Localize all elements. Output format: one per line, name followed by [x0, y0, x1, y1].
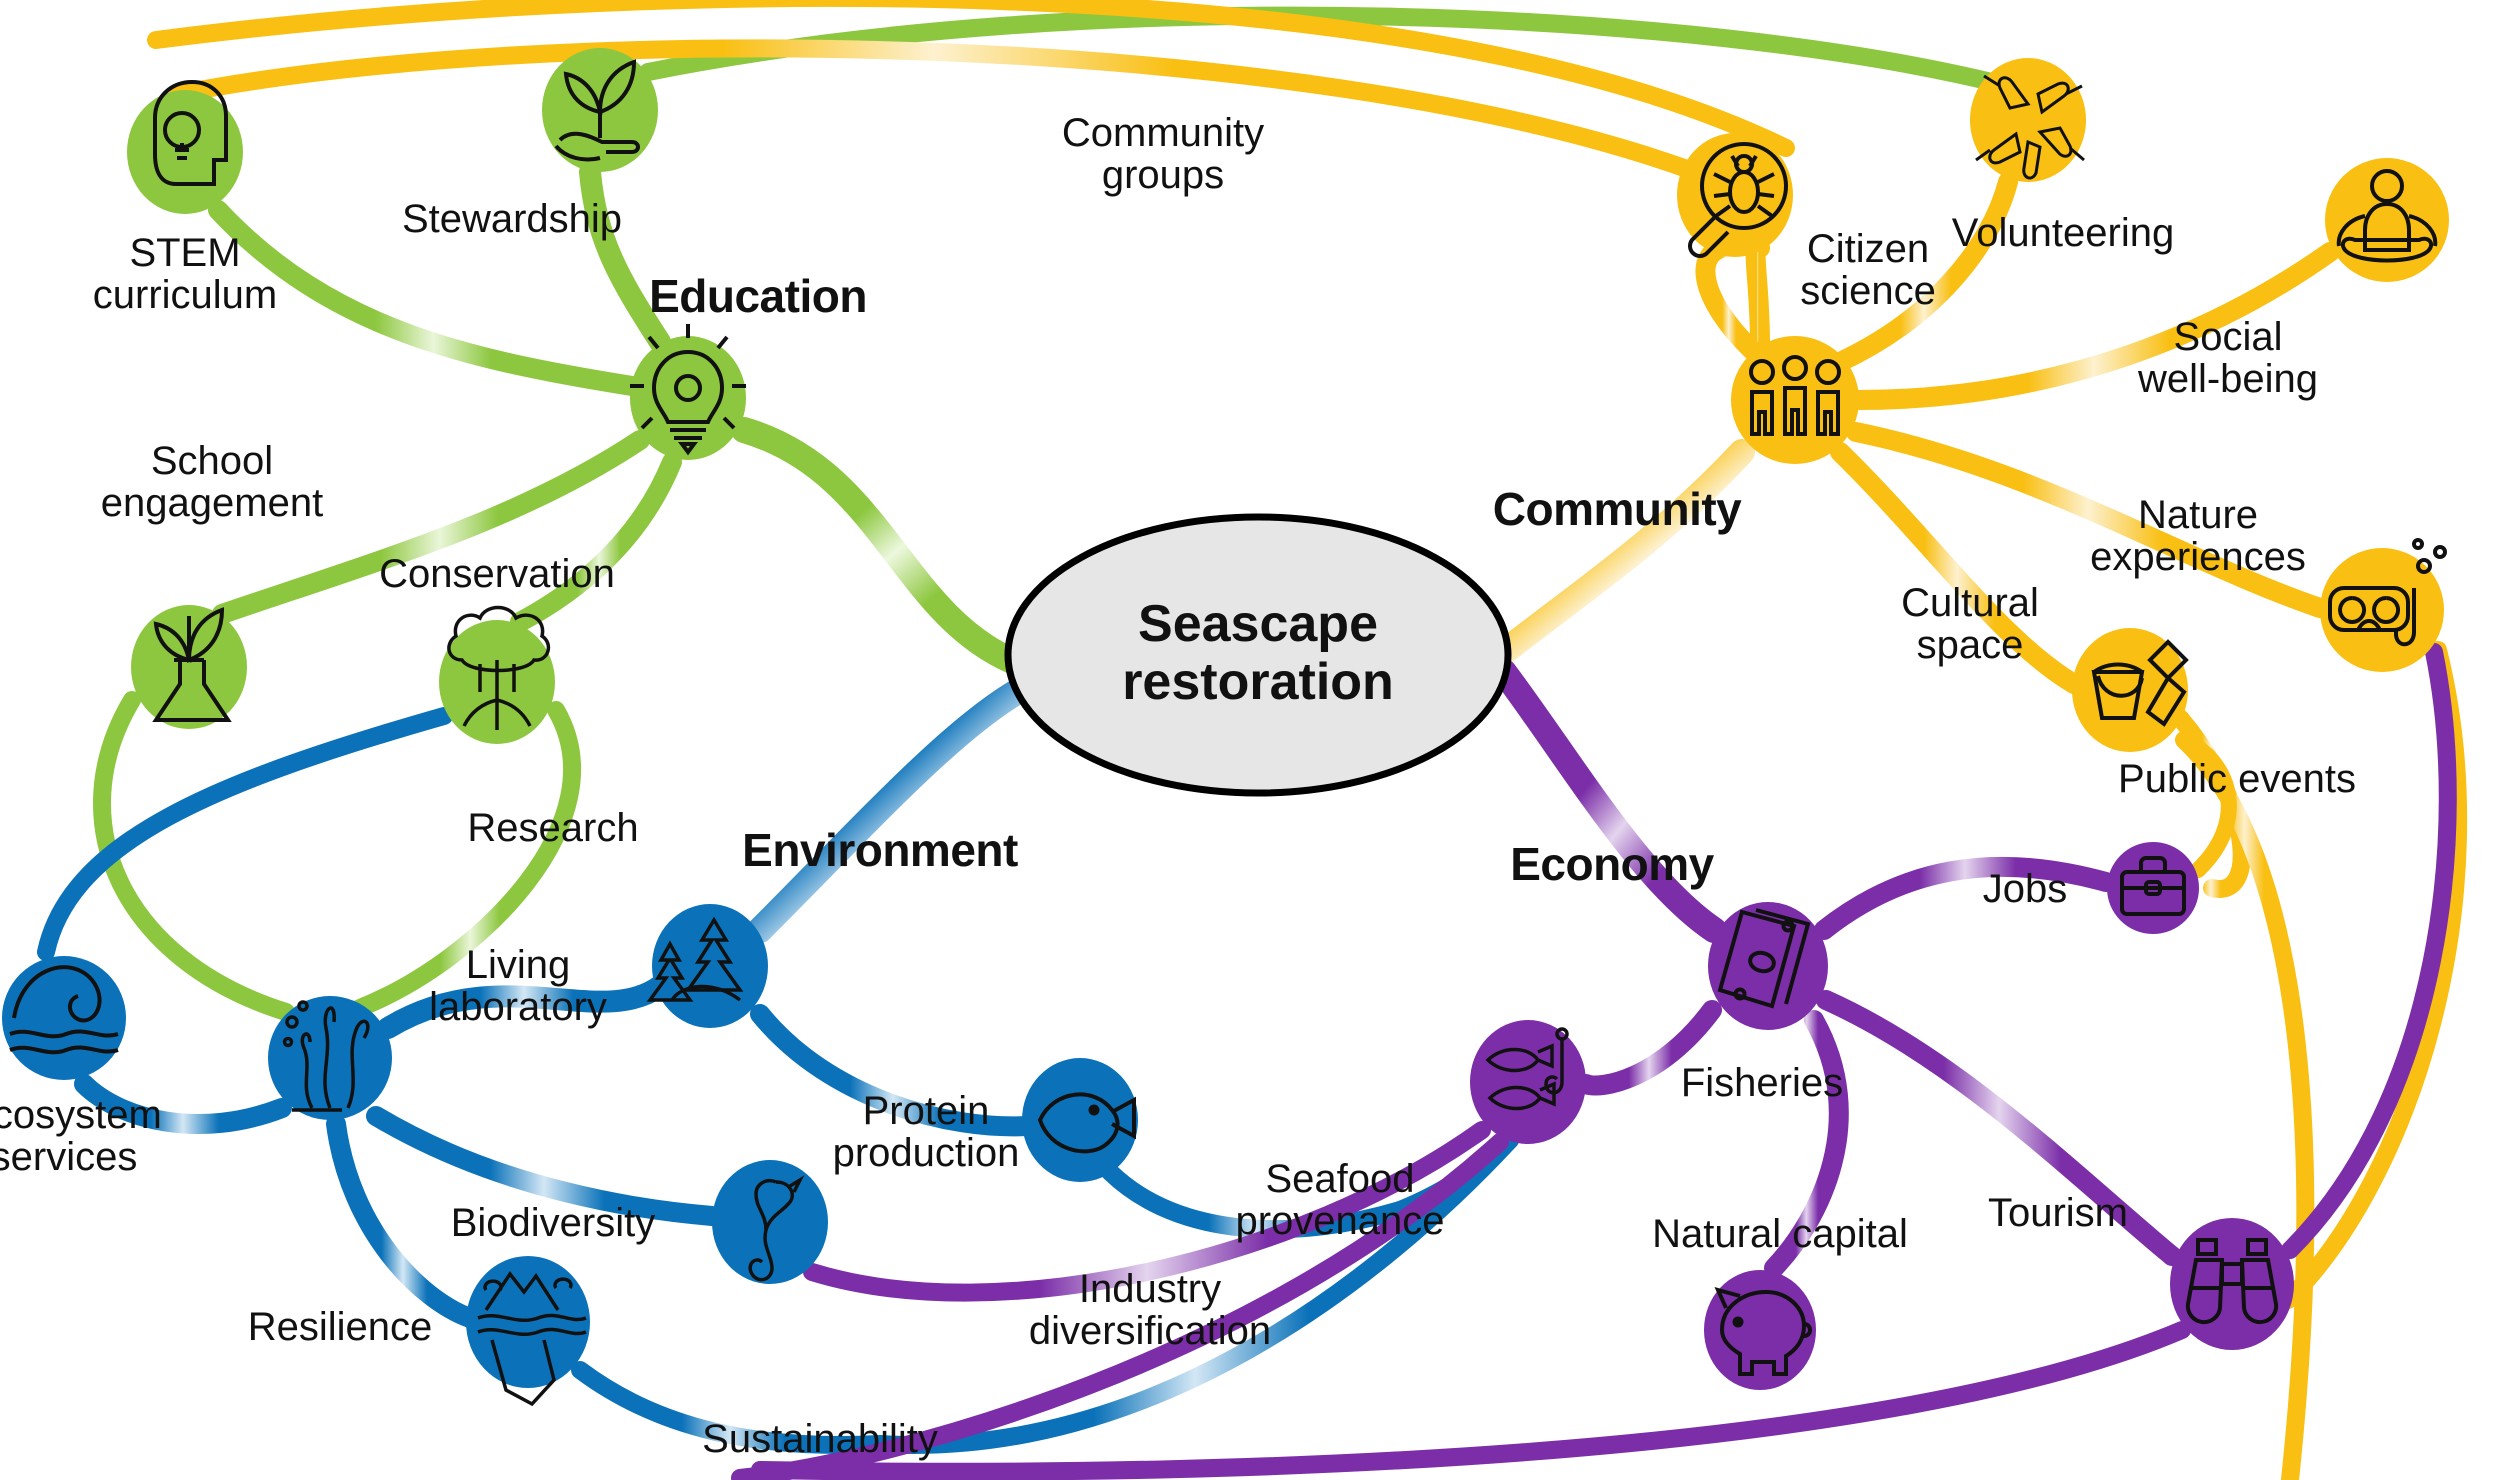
label-stem-curriculum: STEM curriculum — [35, 232, 335, 317]
label-resilience: Resilience — [190, 1306, 490, 1348]
label-living-laboratory: Living laboratory — [368, 944, 668, 1029]
label-industry-diversification: Industry diversification — [1000, 1268, 1300, 1353]
label-seafood-provenance: Seafood provenance — [1190, 1158, 1490, 1243]
label-volunteering: Volunteering — [1913, 212, 2213, 254]
label-stewardship: Stewardship — [362, 198, 662, 240]
label-natural-capital: Natural capital — [1630, 1213, 1930, 1255]
branch-label-economy: Economy — [1412, 840, 1812, 889]
branch-label-environment: Environment — [680, 826, 1080, 875]
label-tourism: Tourism — [1958, 1192, 2158, 1234]
label-protein-production: Protein production — [776, 1090, 1076, 1175]
label-jobs: Jobs — [1925, 868, 2125, 910]
branch-label-community: Community — [1417, 485, 1817, 534]
label-sustainability: Sustainability — [670, 1418, 970, 1460]
label-cultural-space: Cultural space — [1820, 582, 2120, 667]
label-public-events: Public events — [2087, 758, 2387, 800]
label-fisheries: Fisheries — [1612, 1062, 1912, 1104]
label-school-engagement: School engagement — [62, 440, 362, 525]
mind-map-canvas: Seascape restoration Education Environme… — [0, 0, 2500, 1480]
label-social-well-being: Social well-being — [2078, 316, 2378, 401]
branch-label-education: Education — [558, 272, 958, 321]
label-ecosystem-services: Ecosystem services — [0, 1094, 214, 1179]
label-research: Research — [403, 807, 703, 849]
label-nature-experiences: Nature experiences — [2048, 494, 2348, 579]
label-conservation: Conservation — [347, 553, 647, 595]
label-community-groups: Community groups — [1013, 112, 1313, 197]
label-biodiversity: Biodiversity — [403, 1202, 703, 1244]
center-label: Seascape restoration — [958, 595, 1558, 711]
